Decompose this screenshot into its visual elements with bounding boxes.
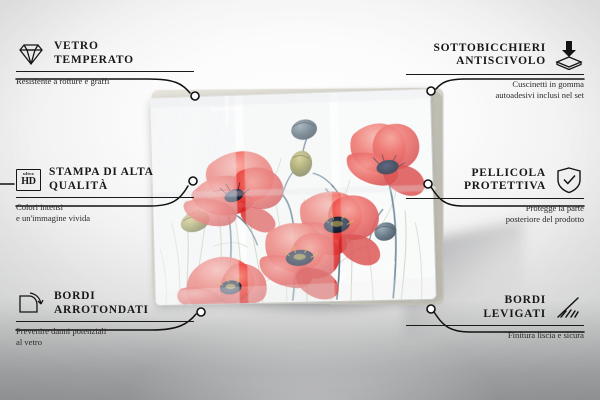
feature-rule xyxy=(16,71,194,72)
feature-title: PELLICOLA PROTETTIVA xyxy=(464,167,546,194)
feature-description: Cuscinetti in gomma autoadesivi inclusi … xyxy=(406,79,584,101)
feature-rule xyxy=(16,197,194,198)
feature-title: BORDI ARROTONDATI xyxy=(54,290,149,317)
feature-bordi-arrotondati: BORDI ARROTONDATI Prevenire danni potenz… xyxy=(16,290,194,348)
infographic-canvas: VETRO TEMPERATO Resistente a rotture e g… xyxy=(0,0,600,400)
feature-description: Protegge la parte posteriore del prodott… xyxy=(406,203,584,225)
feature-rule xyxy=(16,321,194,322)
feature-title: VETRO TEMPERATO xyxy=(54,40,134,67)
feature-description: Finitura liscia e sicura xyxy=(406,330,584,341)
feature-title: BORDI LEVIGATI xyxy=(483,294,546,321)
press-pad-icon xyxy=(554,40,584,70)
feature-pellicola-protettiva: PELLICOLA PROTETTIVA Protegge la parte p… xyxy=(406,166,584,225)
shield-check-icon xyxy=(554,166,584,194)
diamond-icon xyxy=(16,41,46,67)
feature-description: Prevenire danni potenziali al vetro xyxy=(16,326,194,348)
feature-description: Resistente a rotture e graffi xyxy=(16,76,194,87)
feature-title: SOTTOBICCHIERI ANTISCIVOLO xyxy=(433,42,546,69)
feature-stampa-di-alta-qualita: ultra HD STAMPA DI ALTA QUALITÀ Colori i… xyxy=(16,166,194,224)
feature-vetro-temperato: VETRO TEMPERATO Resistente a rotture e g… xyxy=(16,40,194,87)
feature-bordi-levigati: BORDI LEVIGATI Finitura liscia e sicura xyxy=(406,294,584,341)
hatched-triangle-icon xyxy=(554,295,584,321)
feature-rule xyxy=(406,325,584,326)
rounded-corner-icon xyxy=(16,291,46,317)
ultra-hd-icon-main: HD xyxy=(21,177,36,187)
feature-title: STAMPA DI ALTA QUALITÀ xyxy=(49,166,154,193)
ultra-hd-icon: ultra HD xyxy=(16,169,41,191)
feature-rule xyxy=(406,74,584,75)
feature-sottobicchieri-antiscivolo: SOTTOBICCHIERI ANTISCIVOLO Cuscinetti in… xyxy=(406,40,584,101)
feature-description: Colori intensi e un'immagine vivida xyxy=(16,202,194,224)
feature-rule xyxy=(406,198,584,199)
